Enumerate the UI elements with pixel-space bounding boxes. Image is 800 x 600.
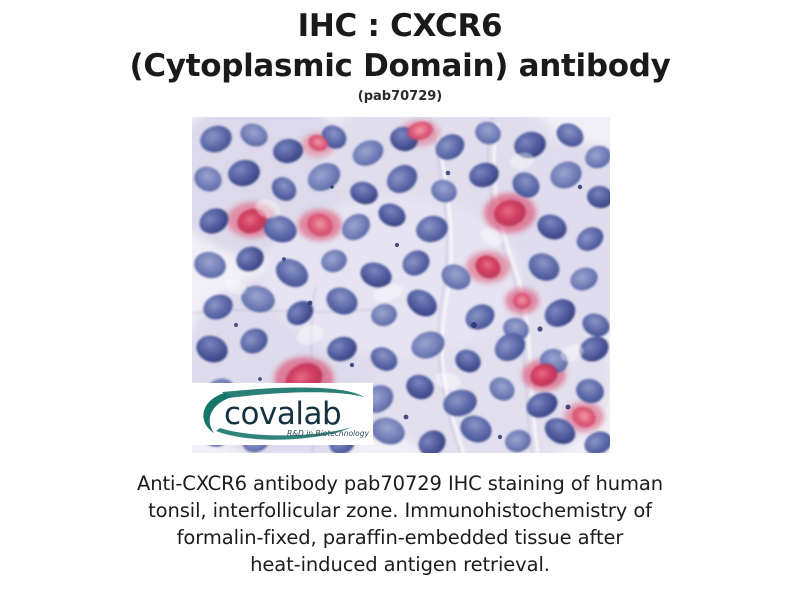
covalab-logo: covalab R&D in Biotechnology [192,383,373,445]
logo-tagline-text: R&D in Biotechnology [287,429,369,438]
caption-line-3: formalin-fixed, paraffin-embedded tissue… [50,524,750,551]
title-line-secondary: (Cytoplasmic Domain) antibody [0,46,800,87]
caption-line-2: tonsil, interfollicular zone. Immunohist… [50,497,750,524]
title-line-primary: IHC : CXCR6 [0,6,800,46]
logo-wordmark-text: covalab [224,396,341,432]
caption-line-4: heat-induced antigen retrieval. [50,551,750,578]
caption-line-1: Anti-CXCR6 antibody pab70729 IHC stainin… [50,470,750,497]
figure-caption: Anti-CXCR6 antibody pab70729 IHC stainin… [50,470,750,578]
catalog-number: (pab70729) [0,88,800,106]
micrograph-figure: covalab R&D in Biotechnology [192,117,610,453]
page-title: IHC : CXCR6 (Cytoplasmic Domain) antibod… [0,0,800,106]
